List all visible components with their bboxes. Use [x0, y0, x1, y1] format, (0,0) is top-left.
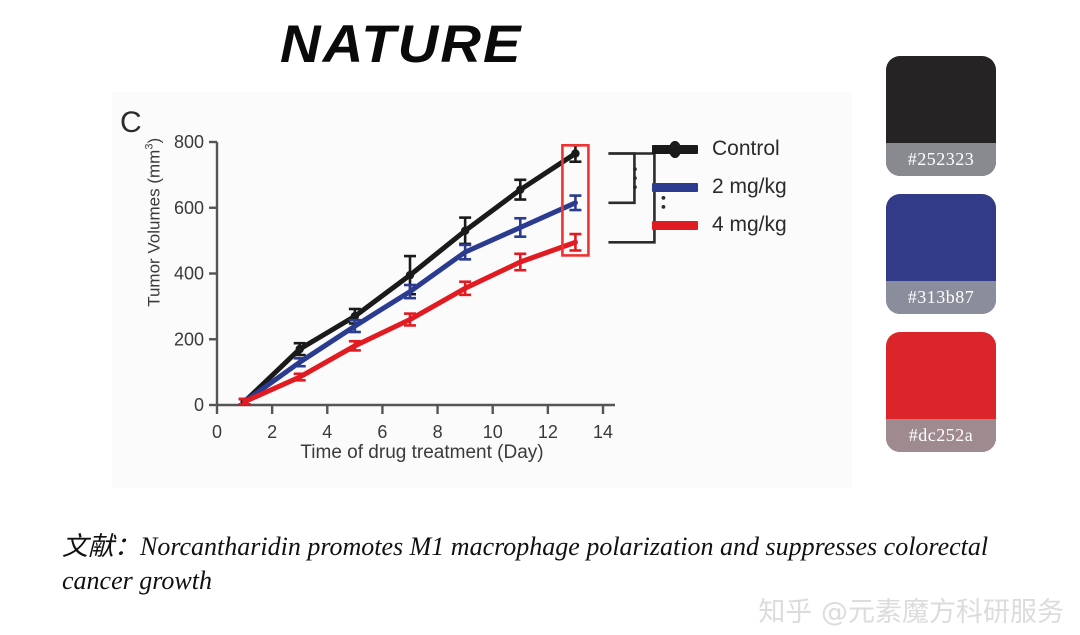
- y-tick-label: 400: [174, 264, 204, 284]
- x-tick-label: 4: [322, 422, 332, 442]
- color-swatch-list: #252323 #313b87 #dc252a: [886, 56, 996, 470]
- legend-item-4mgkg: 4 mg/kg: [652, 206, 787, 244]
- watermark: 知乎 @元素魔方科研服务: [758, 590, 1064, 629]
- legend-label-control: Control: [712, 137, 780, 161]
- legend-marker-2mgkg: [652, 183, 698, 192]
- legend-label-4mgkg: 4 mg/kg: [712, 213, 787, 237]
- color-swatch-card[interactable]: #252323: [886, 56, 996, 176]
- significance-asterisk: [633, 176, 637, 180]
- chart-legend: Control 2 mg/kg 4 mg/kg: [652, 130, 787, 244]
- legend-item-control: Control: [652, 130, 787, 168]
- caption-text: Norcantharidin promotes M1 macrophage po…: [62, 532, 988, 595]
- significance-bracket-lower: [608, 154, 654, 243]
- x-tick-label: 8: [433, 422, 443, 442]
- significance-asterisk: [633, 185, 637, 189]
- color-swatch-hex-label: #252323: [886, 143, 996, 176]
- y-tick-label: 200: [174, 329, 204, 349]
- color-swatch-card[interactable]: #313b87: [886, 194, 996, 314]
- significance-asterisk: [633, 167, 637, 171]
- figure-panel: C Tumor Volumes (mm3) Time of drug treat…: [112, 92, 852, 488]
- x-tick-label: 12: [538, 422, 558, 442]
- x-tick-label: 6: [377, 422, 387, 442]
- significance-bracket-upper: [608, 154, 634, 203]
- legend-label-2mgkg: 2 mg/kg: [712, 175, 787, 199]
- slide-page: NATURE C Tumor Volumes (mm3) Time of dru…: [0, 0, 1080, 635]
- series-2-mg-kg: [239, 196, 582, 405]
- color-swatch-card[interactable]: #dc252a: [886, 332, 996, 452]
- page-title: NATURE: [280, 14, 523, 75]
- legend-marker-4mgkg: [652, 221, 698, 230]
- legend-item-2mgkg: 2 mg/kg: [652, 168, 787, 206]
- x-tick-label: 10: [483, 422, 503, 442]
- y-tick-label: 800: [174, 132, 204, 152]
- caption-prefix: 文献：: [62, 532, 140, 561]
- legend-marker-control: [652, 145, 698, 154]
- color-swatch-hex-label: #dc252a: [886, 419, 996, 452]
- y-tick-label: 600: [174, 198, 204, 218]
- x-tick-label: 0: [212, 422, 222, 442]
- x-tick-label: 2: [267, 422, 277, 442]
- y-tick-label: 0: [194, 395, 204, 415]
- x-tick-label: 14: [593, 422, 613, 442]
- figure-caption: 文献：Norcantharidin promotes M1 macrophage…: [62, 530, 1002, 599]
- color-swatch-hex-label: #313b87: [886, 281, 996, 314]
